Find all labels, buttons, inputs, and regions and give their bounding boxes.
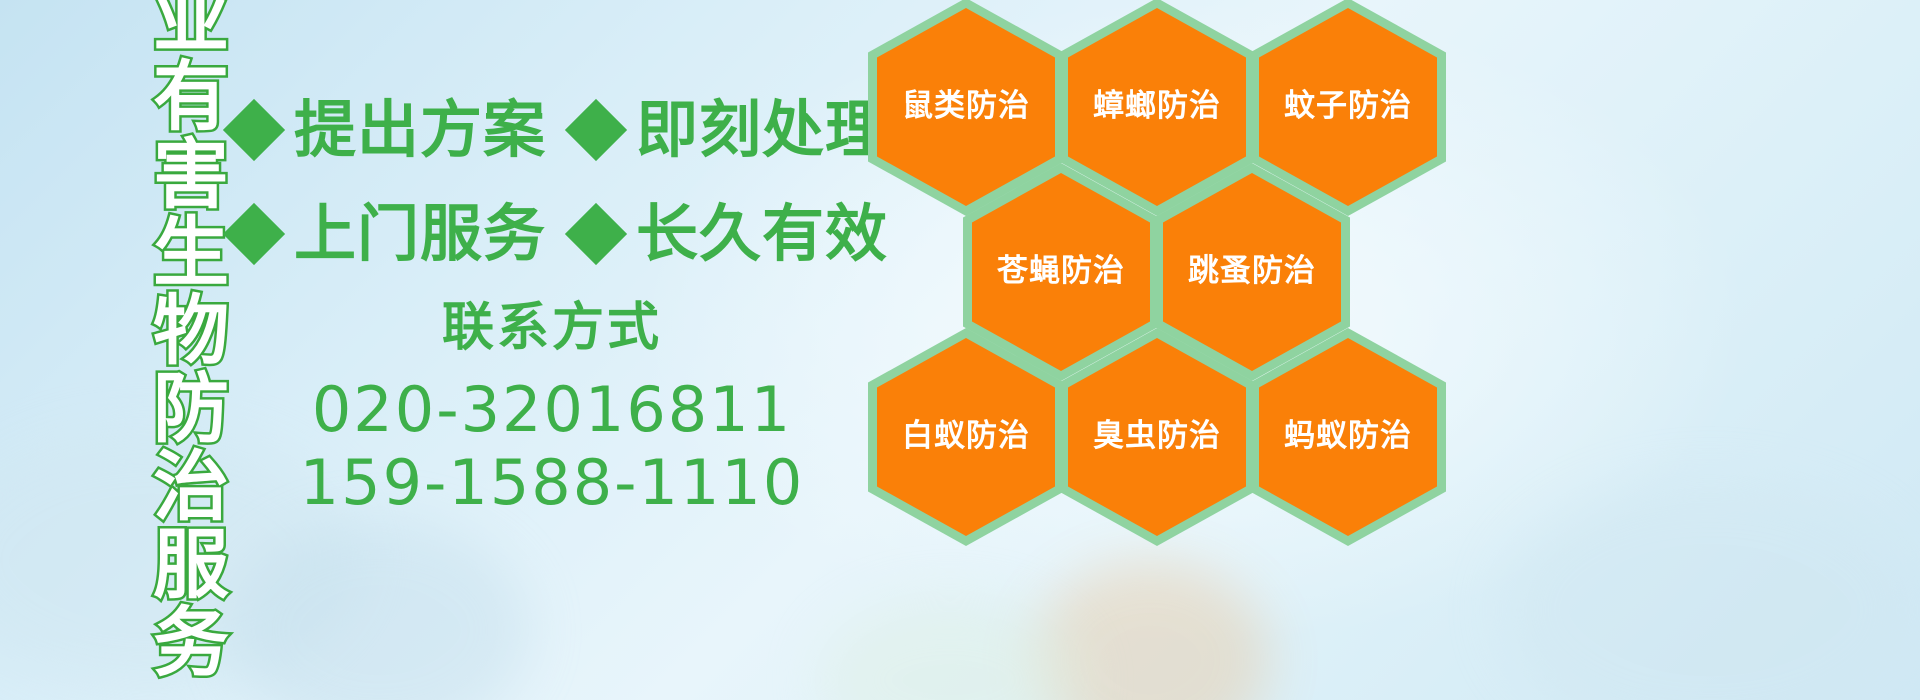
background-blob [1500,480,1920,700]
background-blob [230,520,530,700]
feature-item-propose-plan: 提出方案 [232,99,546,161]
diamond-icon [565,203,627,265]
feature-label: 上门服务 [294,203,546,265]
background-blob [1030,560,1270,700]
hexagon-label: 苍蝇防治 [997,254,1125,290]
feature-item-long-lasting: 长久有效 [574,203,888,265]
phone-number-mobile[interactable]: 159-1588-1110 [232,446,872,519]
hexagon-inner: 鼠类防治 [877,8,1055,206]
service-hexagon-grid: 鼠类防治 蟑螂防治 蚊子防治 苍蝇防治 跳蚤防治 白蚁防治 [862,0,1462,554]
diamond-icon [565,99,627,161]
hexagon-inner: 臭虫防治 [1068,338,1246,536]
hexagon-label: 鼠类防治 [902,89,1030,125]
hexagon-inner: 蚊子防治 [1259,8,1437,206]
feature-row: 上门服务 长久有效 [232,182,862,286]
vertical-headline: 专业有害生物防治服务 [104,10,220,570]
hexagon-label: 蚊子防治 [1284,89,1412,125]
diamond-icon [223,203,285,265]
hexagon-inner: 跳蚤防治 [1163,173,1341,371]
promo-banner: 专业有害生物防治服务 提出方案 即刻处理 上门服务 长久有效 联系方式 [0,0,1920,700]
diamond-icon [223,99,285,161]
feature-item-immediate-handling: 即刻处理 [574,99,888,161]
hexagon-label: 蚂蚁防治 [1284,419,1412,455]
phone-number-landline[interactable]: 020-32016811 [232,373,872,446]
hexagon-label: 蟑螂防治 [1093,89,1221,125]
feature-label: 提出方案 [294,99,546,161]
hexagon-inner: 白蚁防治 [877,338,1055,536]
hexagon-label: 白蚁防治 [902,419,1030,455]
hexagon-inner: 蟑螂防治 [1068,8,1246,206]
feature-list: 提出方案 即刻处理 上门服务 长久有效 [232,78,862,286]
hexagon-label: 臭虫防治 [1093,419,1221,455]
hexagon-inner: 苍蝇防治 [972,173,1150,371]
hexagon-inner: 蚂蚁防治 [1259,338,1437,536]
feature-row: 提出方案 即刻处理 [232,78,862,182]
feature-label: 长久有效 [636,203,888,265]
contact-title: 联系方式 [232,300,872,357]
hexagon-label: 跳蚤防治 [1188,254,1316,290]
contact-block: 联系方式 020-32016811 159-1588-1110 [232,300,872,520]
background-blob [820,600,1080,700]
feature-label: 即刻处理 [636,99,888,161]
feature-item-onsite-service: 上门服务 [232,203,546,265]
